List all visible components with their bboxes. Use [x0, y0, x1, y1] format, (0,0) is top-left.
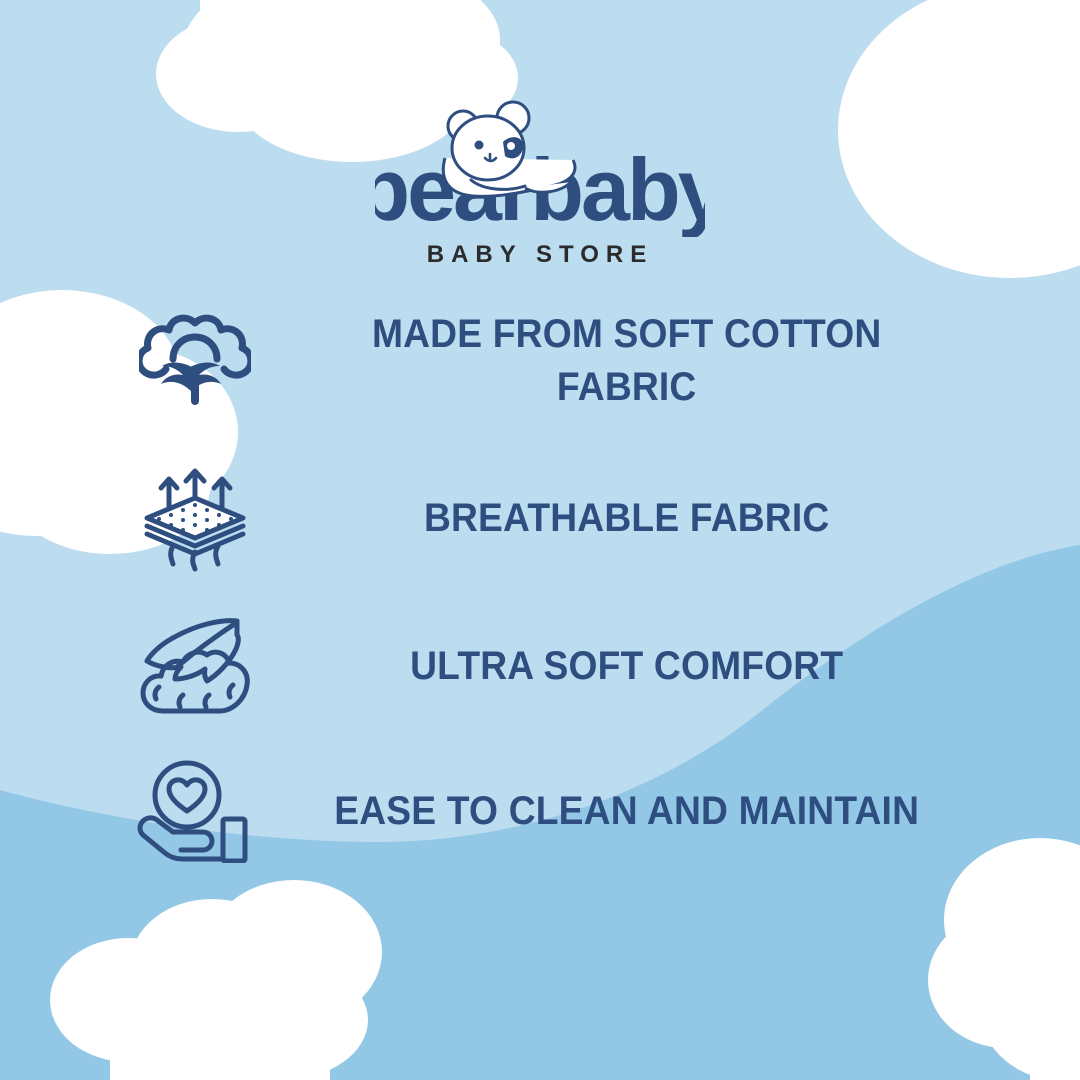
- poster-canvas: bearbaby: [0, 0, 1080, 1080]
- logo-mark: bearbaby: [375, 92, 705, 237]
- feature-label-cotton: MADE FROM SOFT COTTON FABRIC: [313, 308, 1052, 414]
- cotton-boll-icon: [105, 311, 285, 411]
- logo-svg: bearbaby: [375, 92, 705, 237]
- feature-label-easy-care: EASE TO CLEAN AND MAINTAIN: [313, 785, 1052, 838]
- feature-row-softness: ULTRA SOFT COMFORT: [0, 606, 1080, 726]
- feature-row-easy-care: EASE TO CLEAN AND MAINTAIN: [0, 746, 1080, 876]
- brand-logo: bearbaby: [0, 92, 1080, 267]
- feature-label-breathable: BREATHABLE FABRIC: [313, 492, 1052, 545]
- feature-row-breathable: BREATHABLE FABRIC: [0, 458, 1080, 578]
- feature-row-cotton: MADE FROM SOFT COTTON FABRIC: [0, 296, 1080, 426]
- feather-cloud-icon: [105, 615, 285, 717]
- feature-label-softness: ULTRA SOFT COMFORT: [313, 640, 1052, 693]
- hand-heart-icon: [105, 759, 285, 863]
- brand-tagline: BABY STORE: [0, 243, 1080, 267]
- breathable-layers-icon: [105, 464, 285, 572]
